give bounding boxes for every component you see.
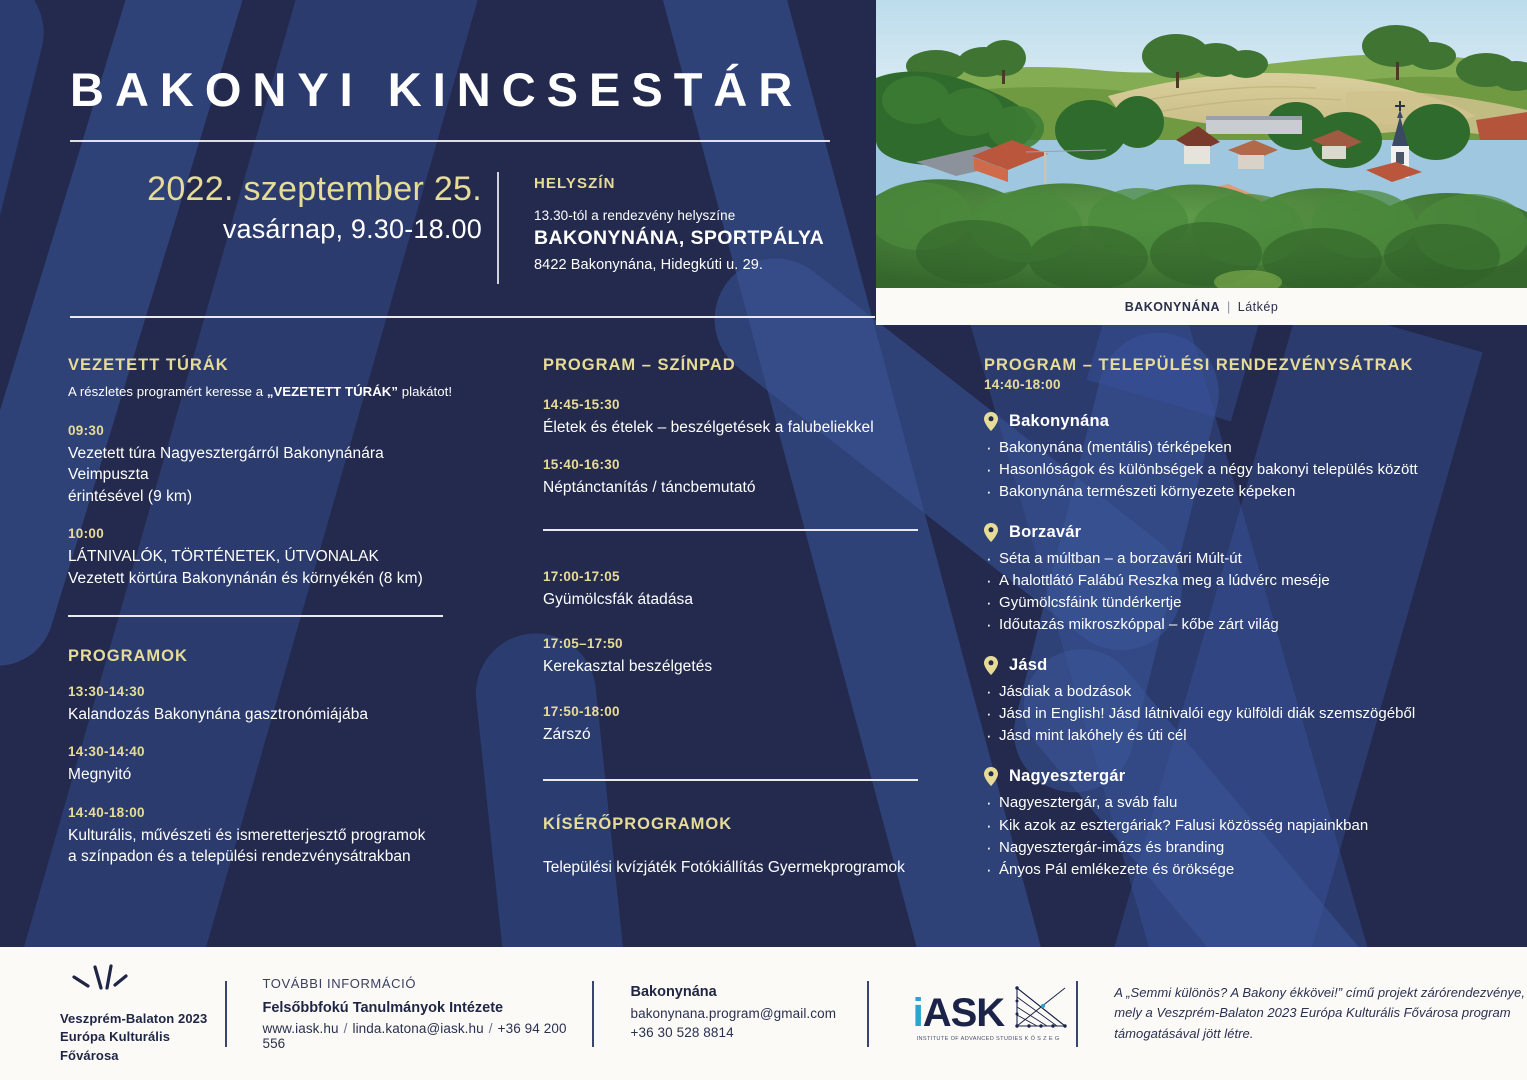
section-title-side-programs: KÍSÉRŐPROGRAMOK	[543, 815, 923, 834]
village-item: Bakonynána természeti környezete képeken	[984, 481, 1474, 503]
tour-line-2: érintésével (9 km)	[68, 486, 468, 507]
program-item: 14:40-18:00 Kulturális, művészeti és ism…	[68, 805, 468, 868]
venue-note: 13.30-tól a rendezvény helyszíne	[534, 208, 874, 223]
title-divider	[70, 140, 830, 142]
village-name: Borzavár	[1009, 523, 1081, 542]
project-note: A „Semmi különös? A Bakony ékkövei!” cím…	[1114, 983, 1527, 1045]
village-item-list: Nagyesztergár, a sváb falu Kik azok az e…	[984, 792, 1474, 880]
village-name: Bakonynána	[1009, 412, 1109, 431]
event-time: vasárnap, 9.30-18.00	[62, 212, 482, 247]
organizer-email[interactable]: linda.katona@iask.hu	[352, 1021, 483, 1036]
stage-divider-2	[543, 779, 918, 781]
program-description: Kulturális, művészeti és ismeretterjeszt…	[68, 825, 468, 868]
village-block: Nagyesztergár Nagyesztergár, a sváb falu…	[984, 767, 1474, 880]
program-line-1: Kulturális, művészeti és ismeretterjeszt…	[68, 825, 468, 846]
veszprem-balaton-logo-icon	[70, 962, 144, 994]
footer-bar: Veszprém-Balaton 2023 Európa Kulturális …	[0, 947, 1527, 1080]
village-item: A halottlátó Falábú Reszka meg a lúdvérc…	[984, 570, 1474, 592]
event-date: 2022. szeptember 25.	[62, 168, 482, 212]
further-info-label: TOVÁBBI INFORMÁCIÓ	[262, 976, 592, 991]
village-heading: Nagyesztergár	[984, 767, 1474, 786]
stage-item: 17:05–17:50 Kerekasztal beszélgetés	[543, 636, 923, 677]
program-time: 14:30-14:40	[68, 744, 468, 759]
village-item: Bakonynána (mentális) térképeken	[984, 437, 1474, 459]
project-note-line-1: A „Semmi különös? A Bakony ékkövei!” cím…	[1114, 985, 1525, 1000]
stage-divider-1	[543, 529, 918, 531]
photo-panel: BAKONYNÁNA | Látkép	[876, 0, 1527, 325]
village-item: Gyümölcsfáink tündérkertje	[984, 592, 1474, 614]
stage-description: Néptánctanítás / táncbemutató	[543, 477, 923, 498]
iask-triangle-mark-icon	[1013, 985, 1069, 1029]
iask-logo-block: iASK	[869, 985, 1077, 1042]
village-item: Jásd mint lakóhely és úti cél	[984, 725, 1474, 747]
ekf-line-1: Veszprém-Balaton 2023	[60, 1010, 225, 1028]
stage-description: Kerekasztal beszélgetés	[543, 656, 923, 677]
village-item-list: Bakonynána (mentális) térképeken Hasonló…	[984, 437, 1474, 503]
photo-caption-separator: |	[1227, 300, 1231, 314]
village-item: Nagyesztergár, a sváb falu	[984, 792, 1474, 814]
program-line-2: a színpadon és a települési rendezvénysá…	[68, 846, 468, 867]
program-line-1: Kalandozás Bakonynána gasztronómiájába	[68, 704, 468, 725]
stage-time: 14:45-15:30	[543, 397, 923, 412]
village-item-list: Jásdiak a bodzások Jásd in English! Jásd…	[984, 681, 1474, 747]
contact-separator: /	[344, 1021, 348, 1036]
village-name: Nagyesztergár	[1009, 767, 1125, 786]
village-item: Hasonlóságok és különbségek a négy bakon…	[984, 459, 1474, 481]
tours-note-pre: A részletes programért keresse a	[68, 384, 267, 399]
stage-description: Zárszó	[543, 724, 923, 745]
column-guided-tours: VEZETETT TÚRÁK A részletes programért ke…	[68, 356, 468, 886]
tours-note-post: plakátot!	[398, 384, 452, 399]
bakonynana-phone: +36 30 528 8814	[630, 1024, 866, 1043]
village-heading: Borzavár	[984, 523, 1474, 542]
iask-logo: iASK	[913, 985, 1077, 1031]
header-divider	[70, 316, 875, 318]
village-item: Séta a múltban – a borzavári Múlt-út	[984, 548, 1474, 570]
stage-item: 14:45-15:30 Életek és ételek – beszélget…	[543, 397, 923, 438]
tours-note: A részletes programért keresse a „VEZETE…	[68, 384, 468, 399]
program-item: 13:30-14:30 Kalandozás Bakonynána gasztr…	[68, 684, 468, 725]
program-line-1: Megnyitó	[68, 764, 468, 785]
iask-tagline: INSTITUTE OF ADVANCED STUDIES K Ő S Z E …	[917, 1036, 1077, 1042]
event-date-block: 2022. szeptember 25. vasárnap, 9.30-18.0…	[62, 168, 482, 247]
side-program-item: Fotókiállítás	[681, 859, 764, 876]
stage-item: 17:00-17:05 Gyümölcsfák átadása	[543, 569, 923, 610]
further-info-block: TOVÁBBI INFORMÁCIÓ Felsőbbfokú Tanulmány…	[227, 976, 592, 1051]
tour-item: 09:30 Vezetett túra Nagyesztergárról Bak…	[68, 423, 468, 507]
side-program-list: Települési kvízjáték Fotókiállítás Gyerm…	[543, 856, 923, 880]
iask-wordmark: iASK	[913, 995, 1005, 1031]
side-program-item: Gyermekprogramok	[768, 859, 905, 876]
stage-time: 17:50-18:00	[543, 704, 923, 719]
village-block: Jásd Jásdiak a bodzások Jásd in English!…	[984, 656, 1474, 747]
photo-caption-place: BAKONYNÁNA	[1125, 300, 1220, 314]
tour-description: Vezetett túra Nagyesztergárról Bakonynán…	[68, 443, 468, 507]
tour-time: 09:30	[68, 423, 468, 438]
village-item: Jásd in English! Jásd látnivalói egy kül…	[984, 703, 1474, 725]
section-title-programs: PROGRAMOK	[68, 647, 468, 666]
ekf-line-2: Európa Kulturális Fővárosa	[60, 1028, 225, 1065]
village-item: Kik azok az esztergáriak? Falusi közössé…	[984, 815, 1474, 837]
tour-line-2: Vezetett körtúra Bakonynánán és környéké…	[68, 568, 468, 589]
stage-time: 17:00-17:05	[543, 569, 923, 584]
project-note-line-3: támogatásával jött létre.	[1114, 1026, 1253, 1041]
tents-time: 14:40-18:00	[984, 377, 1474, 392]
iask-letters-ask: ASK	[923, 991, 1004, 1035]
venue-name: BAKONYNÁNA, SPORTPÁLYA	[534, 227, 874, 250]
venue-label: HELYSZÍN	[534, 175, 874, 192]
village-heading: Bakonynána	[984, 412, 1474, 431]
section-title-tents: PROGRAM – TELEPÜLÉSI RENDEZVÉNYSÁTRAK	[984, 356, 1474, 375]
side-program-item: Települési kvízjáték	[543, 859, 677, 876]
organizer-website[interactable]: www.iask.hu	[262, 1021, 338, 1036]
village-block: Bakonynána Bakonynána (mentális) térképe…	[984, 412, 1474, 503]
program-time: 13:30-14:30	[68, 684, 468, 699]
section-title-stage: PROGRAM – SZÍNPAD	[543, 356, 923, 375]
ekf-logo-block: Veszprém-Balaton 2023 Európa Kulturális …	[0, 962, 225, 1065]
venue-block: HELYSZÍN 13.30-tól a rendezvény helyszín…	[534, 175, 874, 273]
bakonynana-contact-block: Bakonynána bakonynana.program@gmail.com …	[594, 984, 866, 1043]
village-item: Időutazás mikroszkóppal – kőbe zárt vilá…	[984, 614, 1474, 636]
left-column-divider	[68, 615, 443, 617]
stage-description: Gyümölcsfák átadása	[543, 589, 923, 610]
stage-description: Életek és ételek – beszélgetések a falub…	[543, 417, 923, 438]
poster-canvas: BAKONYI KINCSESTÁR 2022. szeptember 25. …	[0, 0, 1527, 1080]
photo-caption: BAKONYNÁNA | Látkép	[876, 288, 1527, 325]
column-village-tents: PROGRAM – TELEPÜLÉSI RENDEZVÉNYSÁTRAK 14…	[984, 356, 1474, 881]
organizer-name: Felsőbbfokú Tanulmányok Intézete	[262, 1000, 592, 1016]
stage-time: 17:05–17:50	[543, 636, 923, 651]
tour-item: 10:00 LÁTNIVALÓK, TÖRTÉNETEK, ÚTVONALAK …	[68, 526, 468, 589]
venue-divider	[497, 172, 499, 284]
village-item: Ányos Pál emlékezete és öröksége	[984, 859, 1474, 881]
page-title: BAKONYI KINCSESTÁR	[70, 62, 803, 117]
village-landscape-photo	[876, 0, 1527, 288]
village-block: Borzavár Séta a múltban – a borzavári Mú…	[984, 523, 1474, 636]
tour-line-1: Vezetett túra Nagyesztergárról Bakonynán…	[68, 443, 468, 486]
photo-caption-kind: Látkép	[1238, 300, 1279, 314]
header-band: BAKONYI KINCSESTÁR 2022. szeptember 25. …	[0, 0, 895, 318]
organizer-contact: www.iask.hu/linda.katona@iask.hu/+36 94 …	[262, 1021, 592, 1051]
village-item: Nagyesztergár-imázs és branding	[984, 837, 1474, 859]
map-pin-icon	[984, 412, 998, 431]
program-description: Megnyitó	[68, 764, 468, 785]
project-note-block: A „Semmi különös? A Bakony ékkövei!” cím…	[1078, 983, 1527, 1045]
village-heading: Jásd	[984, 656, 1474, 675]
village-item-list: Séta a múltban – a borzavári Múlt-út A h…	[984, 548, 1474, 636]
iask-letter-i: i	[913, 991, 923, 1035]
map-pin-icon	[984, 656, 998, 675]
project-note-line-2: mely a Veszprém-Balaton 2023 Európa Kult…	[1114, 1005, 1510, 1020]
program-item: 14:30-14:40 Megnyitó	[68, 744, 468, 785]
program-time: 14:40-18:00	[68, 805, 468, 820]
tour-description: LÁTNIVALÓK, TÖRTÉNETEK, ÚTVONALAK Vezete…	[68, 546, 468, 589]
village-name: Jásd	[1009, 656, 1047, 675]
program-description: Kalandozás Bakonynána gasztronómiájába	[68, 704, 468, 725]
map-pin-icon	[984, 523, 998, 542]
column-stage-program: PROGRAM – SZÍNPAD 14:45-15:30 Életek és …	[543, 356, 923, 880]
tours-note-emphasis: „VEZETETT TÚRÁK”	[267, 384, 398, 399]
section-title-tours: VEZETETT TÚRÁK	[68, 356, 468, 375]
stage-item: 15:40-16:30 Néptánctanítás / táncbemutat…	[543, 457, 923, 498]
bakonynana-email[interactable]: bakonynana.program@gmail.com	[630, 1005, 866, 1024]
contact-separator: /	[489, 1021, 493, 1036]
stage-time: 15:40-16:30	[543, 457, 923, 472]
map-pin-icon	[984, 767, 998, 786]
tour-time: 10:00	[68, 526, 468, 541]
stage-item: 17:50-18:00 Zárszó	[543, 704, 923, 745]
bakonynana-label: Bakonynána	[630, 984, 866, 1000]
village-item: Jásdiak a bodzások	[984, 681, 1474, 703]
venue-address: 8422 Bakonynána, Hidegkúti u. 29.	[534, 257, 874, 273]
tour-line-1: LÁTNIVALÓK, TÖRTÉNETEK, ÚTVONALAK	[68, 546, 468, 567]
